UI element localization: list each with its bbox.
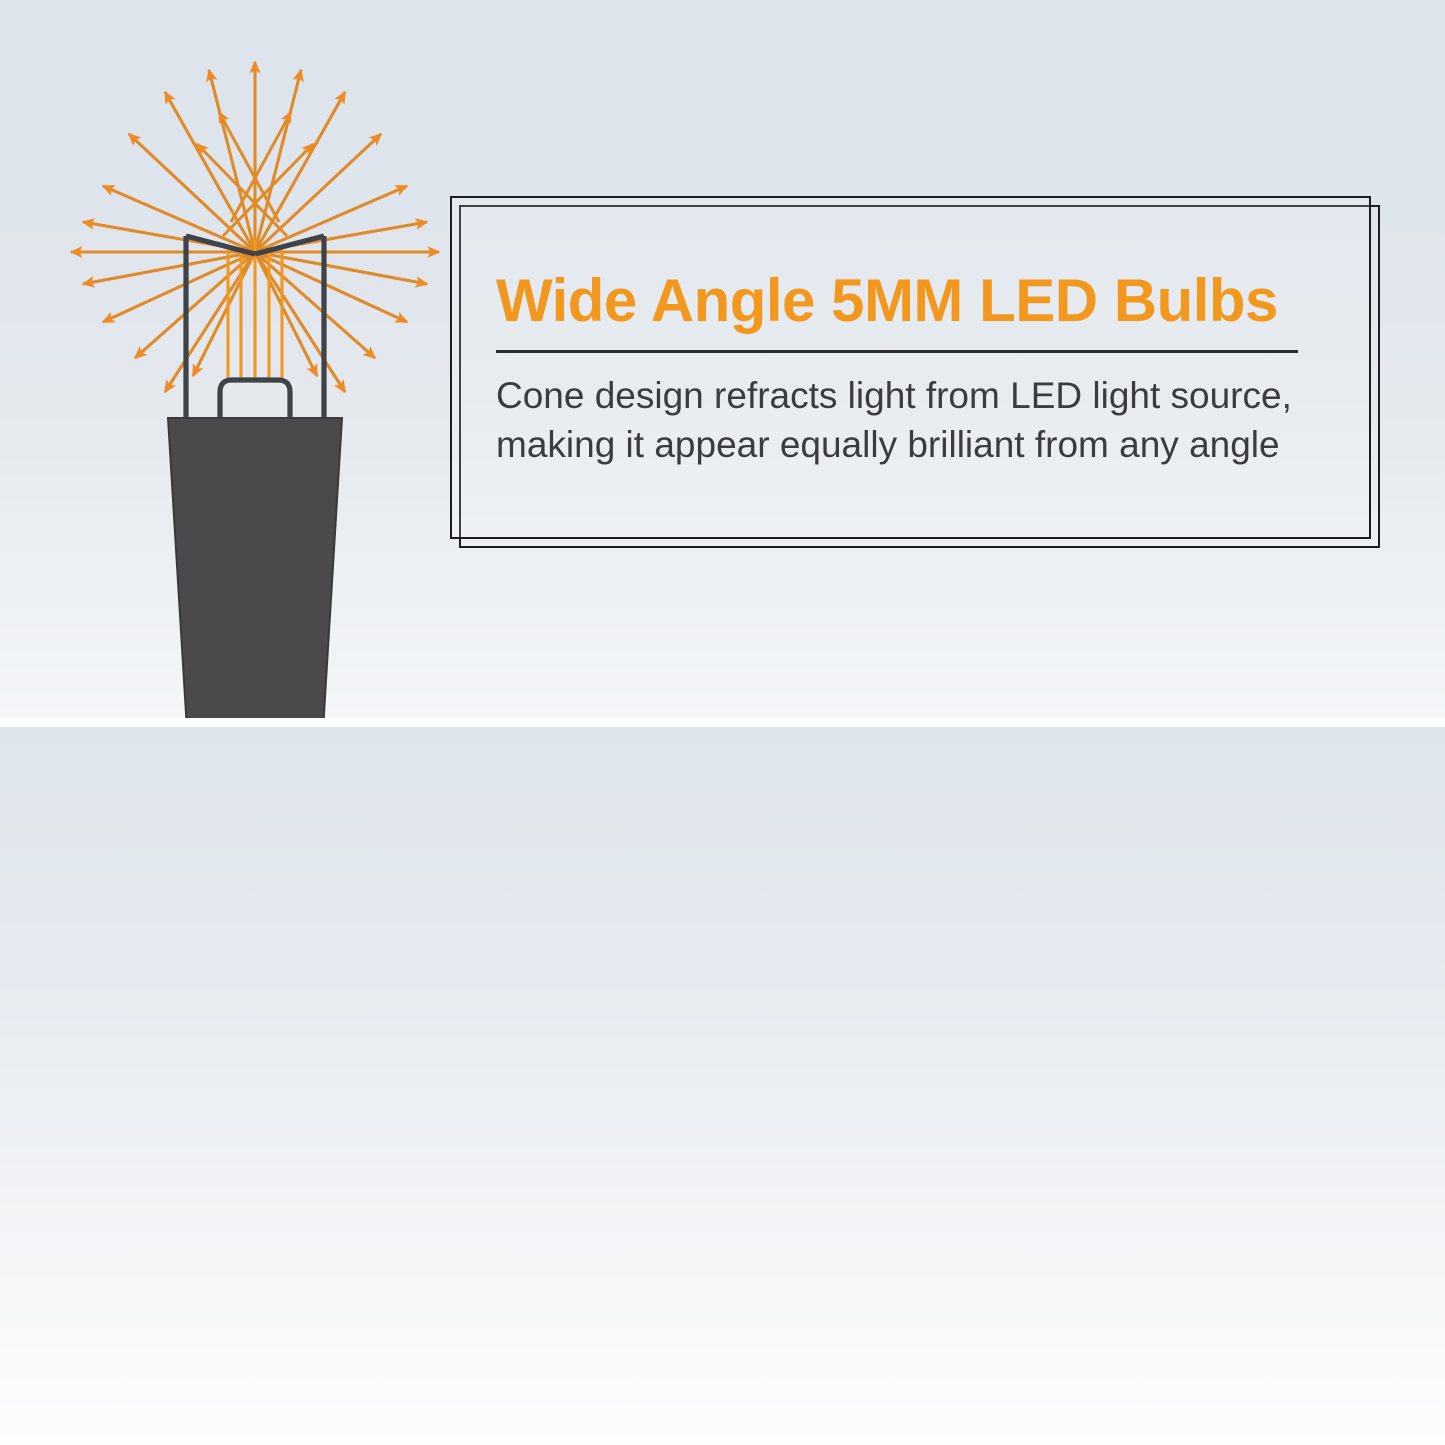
wide-angle-title: Wide Angle 5MM LED Bulbs [496, 269, 1331, 332]
infographic-root: Wide Angle 5MM LED Bulbs Cone design ref… [0, 0, 1445, 1445]
wide-angle-description: Cone design refracts light from LED ligh… [496, 371, 1331, 469]
title-divider-rule [496, 350, 1298, 353]
description-line-1: Cone design refracts light from LED ligh… [496, 371, 1331, 420]
wide-angle-led-diagram [55, 40, 455, 722]
section-standard: Standard LED Bulbs Standard LED appear b… [0, 727, 1445, 1445]
section-divider [0, 718, 1445, 727]
section-wide-angle: Wide Angle 5MM LED Bulbs Cone design ref… [0, 0, 1445, 722]
description-line-2: making it appear equally brilliant from … [496, 420, 1331, 469]
wide-angle-text-panel: Wide Angle 5MM LED Bulbs Cone design ref… [450, 196, 1380, 548]
panel-content: Wide Angle 5MM LED Bulbs Cone design ref… [496, 238, 1331, 500]
